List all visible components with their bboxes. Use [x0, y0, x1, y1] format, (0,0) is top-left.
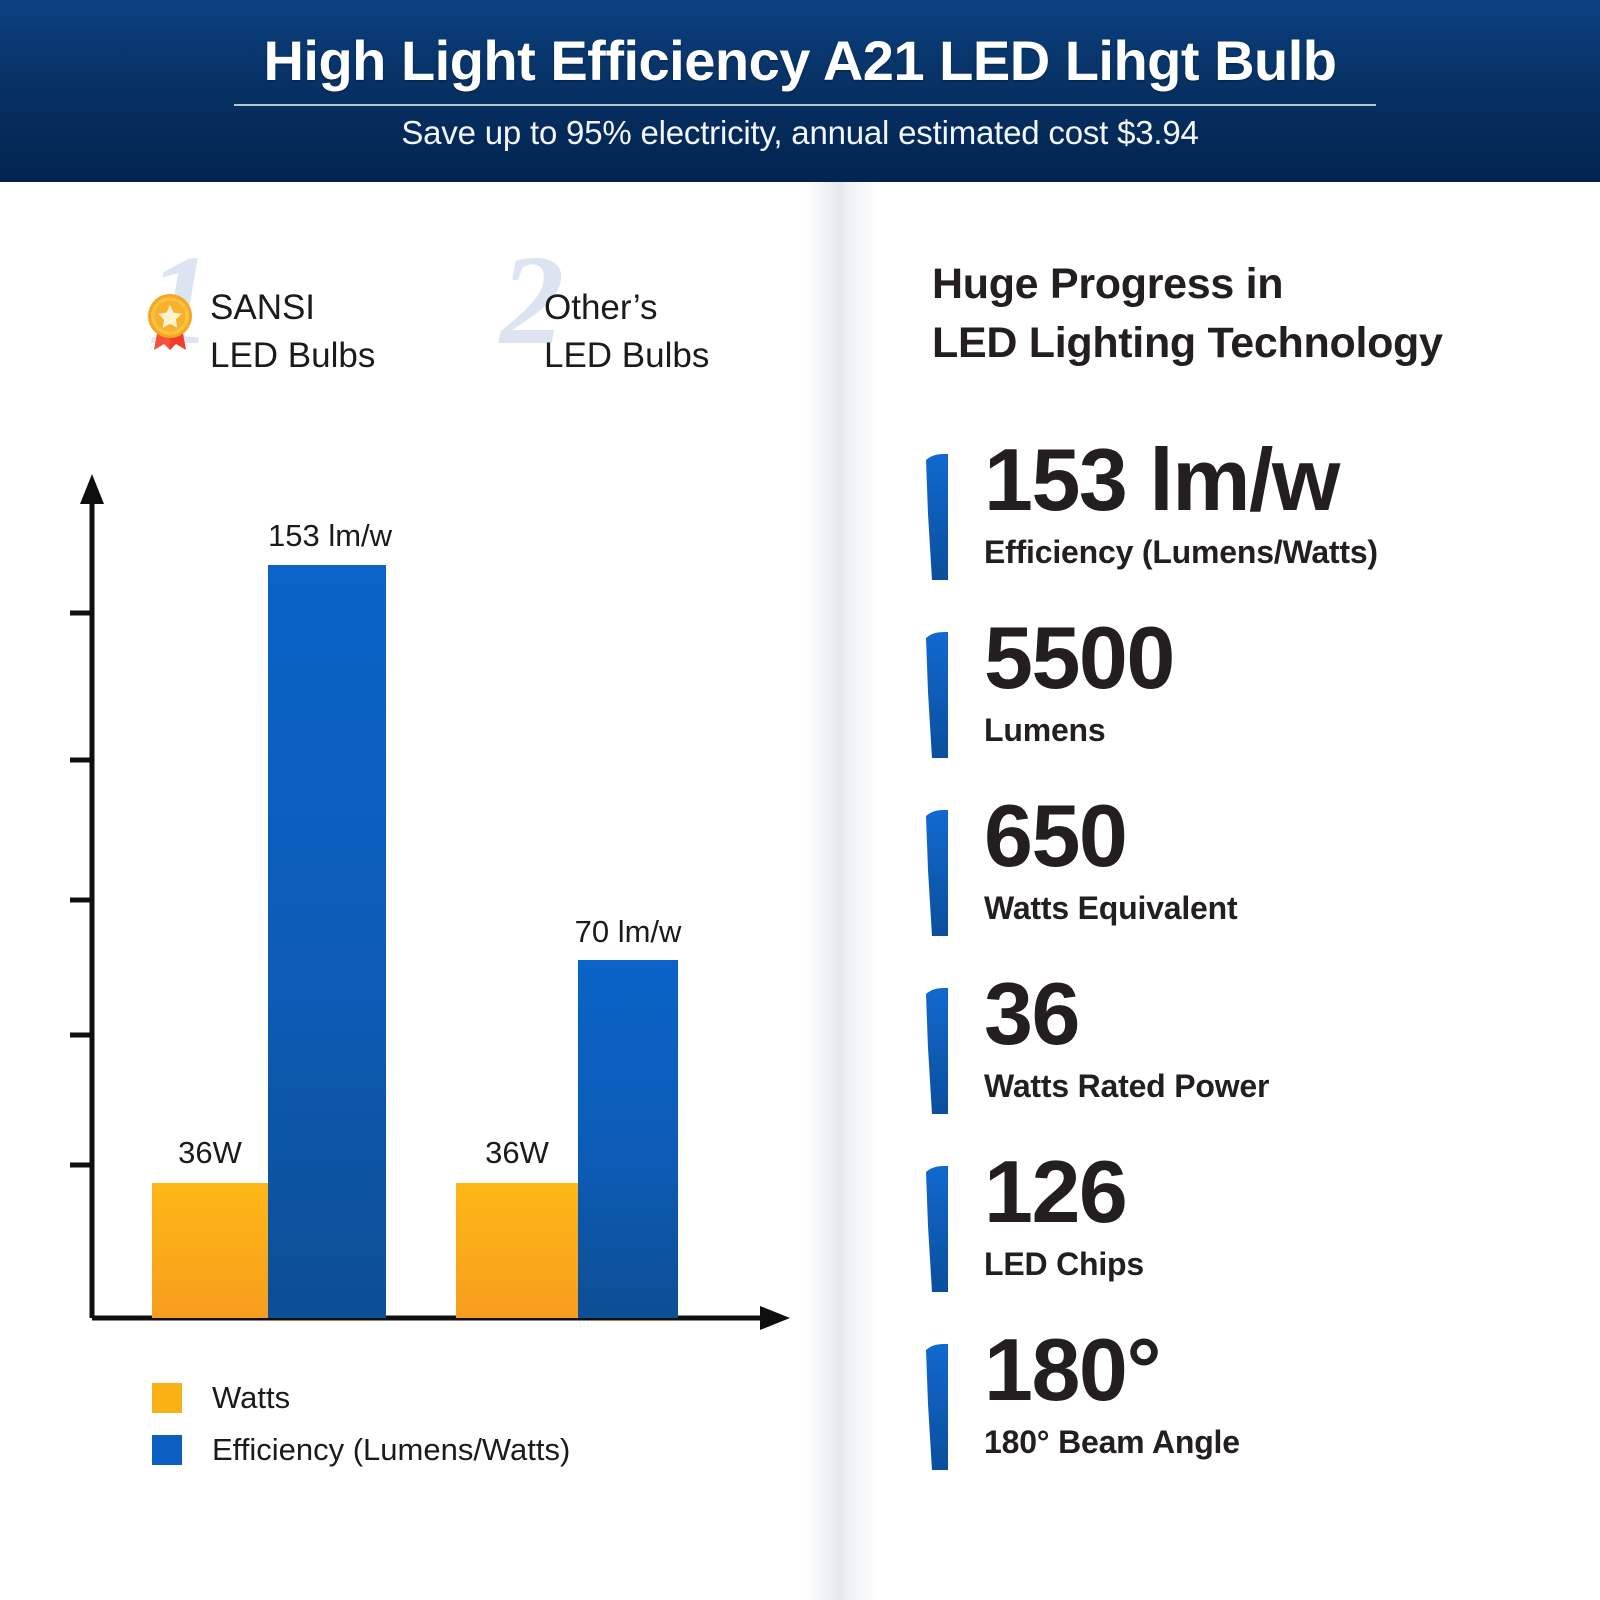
legend-label-efficiency: Efficiency (Lumens/Watts): [212, 1432, 570, 1468]
comparison-chart-panel: 1 SANSI LED Bulbs 2 Other’s LED Bulbs: [0, 182, 840, 1600]
spec-value: 153 lm/w: [984, 428, 1339, 532]
accent-bar-icon: [926, 1344, 948, 1470]
bar-efficiency-sansi: [268, 565, 386, 1318]
specs-heading: Huge Progress in LED Lighting Technology: [932, 255, 1443, 374]
accent-bar-icon: [926, 1166, 948, 1292]
bar-value-label-efficiency-sansi: 153 lm/w: [268, 518, 386, 554]
spec-value: 650: [984, 784, 1126, 888]
spec-item-lumens: 5500 Lumens: [926, 620, 1600, 798]
spec-item-beam-angle: 180° 180° Beam Angle: [926, 1332, 1600, 1510]
bar-efficiency-others: [578, 960, 678, 1318]
header-banner: High Light Efficiency A21 LED Lihgt Bulb…: [0, 0, 1600, 182]
title-underline-divider: [234, 104, 1376, 106]
spec-label: 180° Beam Angle: [984, 1424, 1240, 1461]
spec-label: Watts Equivalent: [984, 890, 1237, 927]
spec-label: Lumens: [984, 712, 1106, 749]
specs-list: 153 lm/w Efficiency (Lumens/Watts) 5500 …: [926, 442, 1600, 1510]
specs-panel: Huge Progress in LED Lighting Technology…: [878, 182, 1600, 1600]
legend-item-watts: Watts: [152, 1372, 570, 1424]
page-title: High Light Efficiency A21 LED Lihgt Bulb: [0, 28, 1600, 93]
chart-legend: Watts Efficiency (Lumens/Watts): [152, 1372, 570, 1476]
bar-value-label-watts-others: 36W: [456, 1135, 578, 1171]
spec-value: 5500: [984, 606, 1174, 710]
spec-item-led-chips: 126 LED Chips: [926, 1154, 1600, 1332]
accent-bar-icon: [926, 454, 948, 580]
bar-watts-others: [456, 1183, 578, 1318]
legend-label-watts: Watts: [212, 1380, 290, 1416]
accent-bar-icon: [926, 988, 948, 1114]
spec-item-watts-equivalent: 650 Watts Equivalent: [926, 798, 1600, 976]
spec-label: Watts Rated Power: [984, 1068, 1269, 1105]
spec-value: 36: [984, 962, 1079, 1066]
spec-label: Efficiency (Lumens/Watts): [984, 534, 1378, 571]
spec-value: 126: [984, 1140, 1126, 1244]
spec-item-efficiency: 153 lm/w Efficiency (Lumens/Watts): [926, 442, 1600, 620]
spec-label: LED Chips: [984, 1246, 1144, 1283]
spec-value: 180°: [984, 1318, 1160, 1422]
bar-value-label-watts-sansi: 36W: [152, 1135, 268, 1171]
spec-item-watts-rated-power: 36 Watts Rated Power: [926, 976, 1600, 1154]
legend-swatch-watts: [152, 1383, 182, 1413]
accent-bar-icon: [926, 632, 948, 758]
header-subtitle: Save up to 95% electricity, annual estim…: [0, 114, 1600, 152]
specs-heading-line-2: LED Lighting Technology: [932, 314, 1443, 373]
legend-swatch-efficiency: [152, 1435, 182, 1465]
accent-bar-icon: [926, 810, 948, 936]
legend-item-efficiency: Efficiency (Lumens/Watts): [152, 1424, 570, 1476]
specs-heading-line-1: Huge Progress in: [932, 255, 1443, 314]
bar-watts-sansi: [152, 1183, 268, 1318]
y-axis: [70, 474, 104, 1318]
bar-value-label-efficiency-others: 70 lm/w: [563, 914, 693, 950]
